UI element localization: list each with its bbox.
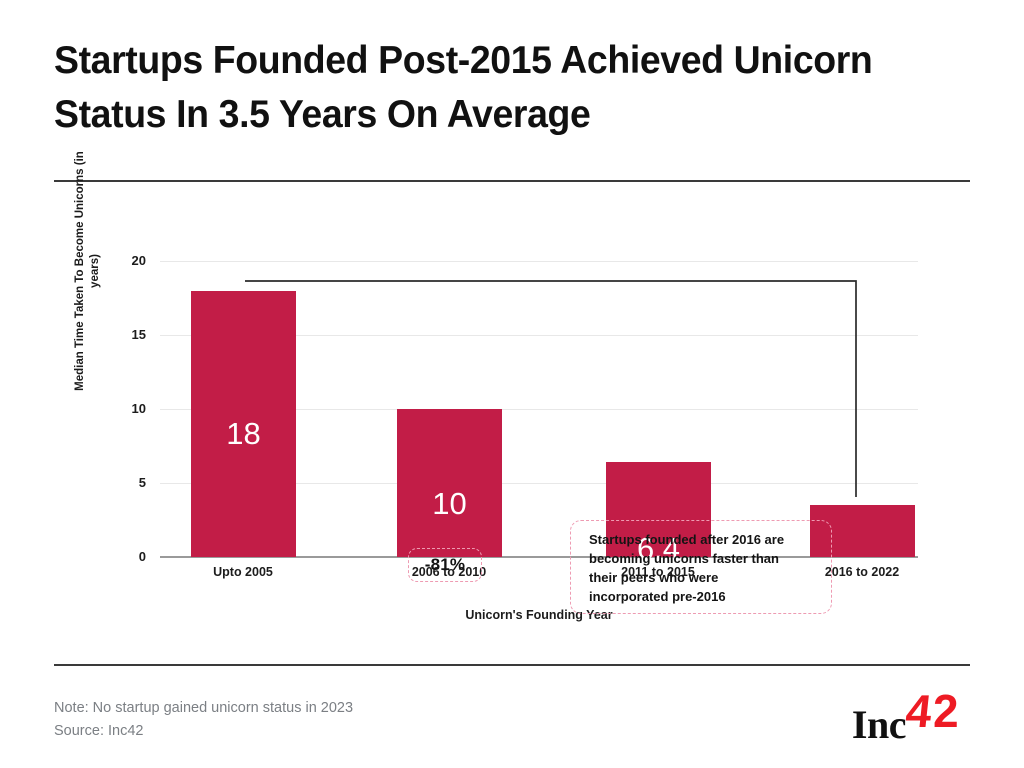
page-title: Startups Founded Post-2015 Achieved Unic… — [54, 34, 947, 142]
footer-notes: Note: No startup gained unicorn status i… — [54, 697, 353, 743]
infographic-page: Startups Founded Post-2015 Achieved Unic… — [0, 0, 1024, 768]
footer-divider — [54, 664, 970, 666]
y-axis-title: Median Time Taken To Become Unicorns (in… — [73, 151, 103, 391]
gridline — [160, 261, 918, 262]
inc42-logo: Inc 4 2 — [852, 696, 972, 736]
logo-digit-four: 4 — [904, 690, 934, 732]
callout-line: Startups founded after 2016 are — [589, 530, 817, 549]
y-tick-label: 20 — [112, 253, 146, 268]
bar-2006-to-2010[interactable] — [397, 409, 502, 557]
bar-chart: Median Time Taken To Become Unicorns (in… — [0, 200, 1024, 650]
y-tick-label: 5 — [112, 475, 146, 490]
x-tick-label-upto-2005: Upto 2005 — [163, 565, 323, 579]
header-divider — [54, 180, 970, 182]
y-tick-label: 15 — [112, 327, 146, 342]
callout-line: their peers who were — [589, 568, 817, 587]
footer-note: Note: No startup gained unicorn status i… — [54, 697, 353, 720]
percent-change-badge: -81% — [408, 548, 482, 582]
logo-digit-two: 2 — [933, 690, 959, 732]
footer-source: Source: Inc42 — [54, 720, 353, 743]
logo-wordmark: Inc — [852, 705, 906, 745]
bar-value-2006-to-2010: 10 — [397, 486, 502, 522]
callout-line: incorporated pre-2016 — [589, 587, 817, 606]
callout-line: becoming unicorns faster than — [589, 549, 817, 568]
insight-callout: Startups founded after 2016 are becoming… — [570, 520, 832, 614]
plot-area: 18 10 6.4 3.5 — [160, 261, 918, 557]
bar-value-upto-2005: 18 — [191, 416, 296, 452]
y-tick-label: 0 — [112, 549, 146, 564]
y-tick-label: 10 — [112, 401, 146, 416]
logo-42-mark: 4 2 — [906, 696, 972, 738]
